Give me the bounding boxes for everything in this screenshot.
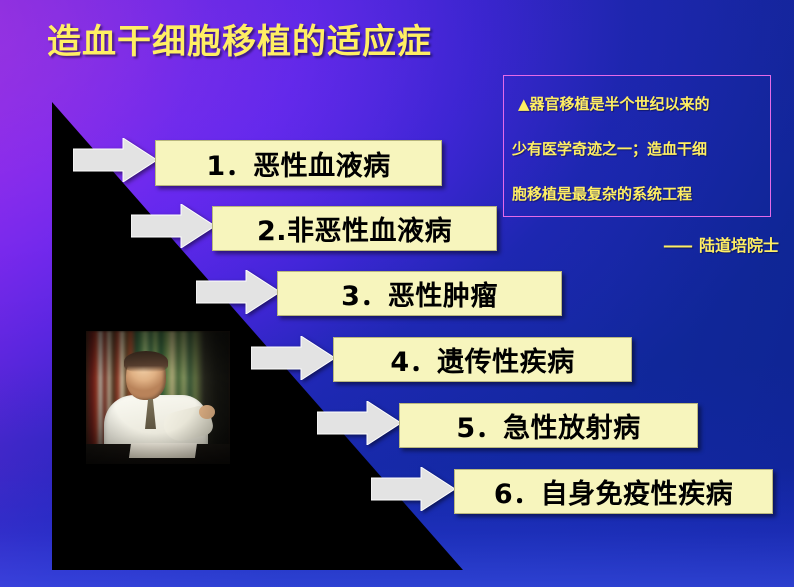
attribution-dash: —— (663, 236, 691, 255)
quote-line-2: 少有医学奇迹之一；造血干细 (512, 127, 762, 172)
quote-line-3: 胞移植是最复杂的系统工程 (512, 172, 762, 217)
photo-vignette (86, 331, 230, 464)
arrow-icon-1 (73, 138, 157, 182)
item-label-1: 1．恶性血液病 (206, 144, 390, 183)
item-label-4: 4．遗传性疾病 (390, 340, 574, 379)
item-label-2: 2.非恶性血液病 (257, 209, 452, 248)
quote-attribution: ——陆道培院士 (503, 232, 779, 256)
arrow-icon-3 (196, 270, 280, 314)
arrow-icon-6 (371, 467, 455, 511)
item-box-2[interactable]: 2.非恶性血液病 (212, 206, 497, 251)
item-box-3[interactable]: 3．恶性肿瘤 (277, 271, 562, 316)
item-box-5[interactable]: 5．急性放射病 (399, 403, 698, 448)
arrow-icon-4 (251, 336, 335, 380)
item-box-1[interactable]: 1．恶性血液病 (155, 140, 442, 186)
item-box-4[interactable]: 4．遗传性疾病 (333, 337, 632, 382)
item-label-5: 5．急性放射病 (456, 406, 640, 445)
attribution-name: 陆道培院士 (699, 236, 779, 255)
quote-box: ▲器官移植是半个世纪以来的 少有医学奇迹之一；造血干细 胞移植是最复杂的系统工程 (503, 75, 771, 217)
arrow-icon-5 (317, 401, 401, 445)
item-box-6[interactable]: 6．自身免疫性疾病 (454, 469, 773, 514)
item-label-3: 3．恶性肿瘤 (341, 274, 498, 313)
portrait-photo (86, 331, 230, 464)
item-label-6: 6．自身免疫性疾病 (494, 472, 733, 511)
arrow-icon-2 (131, 204, 215, 248)
slide-canvas: 造血干细胞移植的适应症 1．恶性血液病 2 (0, 0, 794, 587)
quote-line-1: ▲器官移植是半个世纪以来的 (512, 82, 762, 127)
page-title: 造血干细胞移植的适应症 (47, 14, 432, 63)
